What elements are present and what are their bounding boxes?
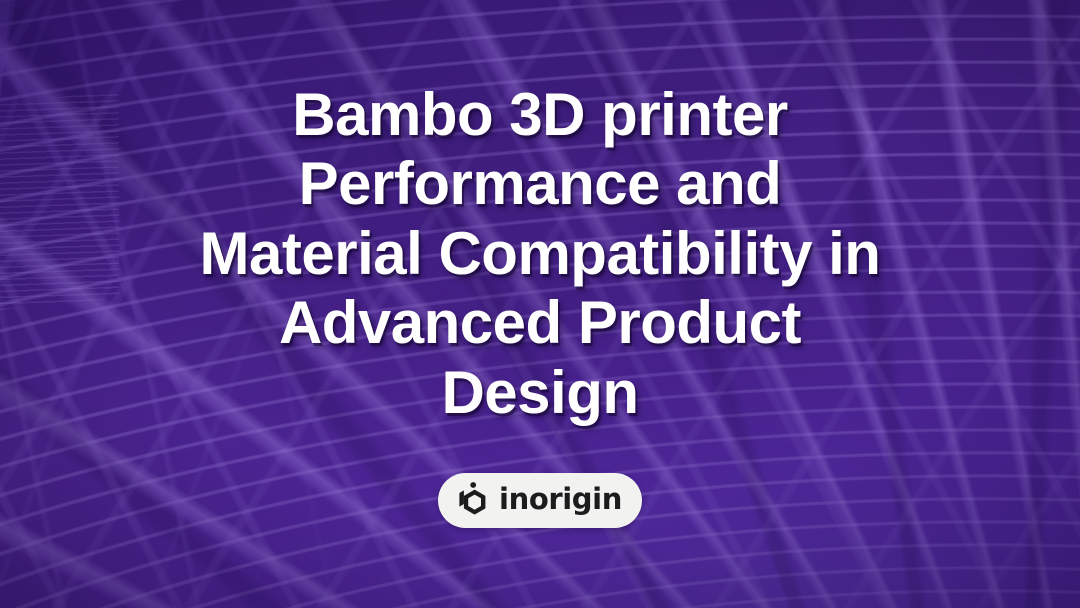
inorigin-cube-icon <box>454 480 490 521</box>
banner-headline: Bambo 3D printer Performance and Materia… <box>0 80 1080 428</box>
inorigin-logo[interactable]: inorigin <box>438 473 642 528</box>
banner-content: Bambo 3D printer Performance and Materia… <box>0 0 1080 608</box>
inorigin-wordmark: inorigin <box>499 485 622 514</box>
headline-line-5: Design <box>40 358 1040 428</box>
article-hero-banner: Bambo 3D printer Performance and Materia… <box>0 0 1080 608</box>
headline-line-1: Bambo 3D printer <box>40 80 1040 150</box>
headline-line-4: Advanced Product <box>40 288 1040 358</box>
headline-line-2: Performance and <box>40 149 1040 219</box>
brand-logo-area: inorigin <box>438 473 642 528</box>
headline-line-3: Material Compatibility in <box>40 219 1040 289</box>
